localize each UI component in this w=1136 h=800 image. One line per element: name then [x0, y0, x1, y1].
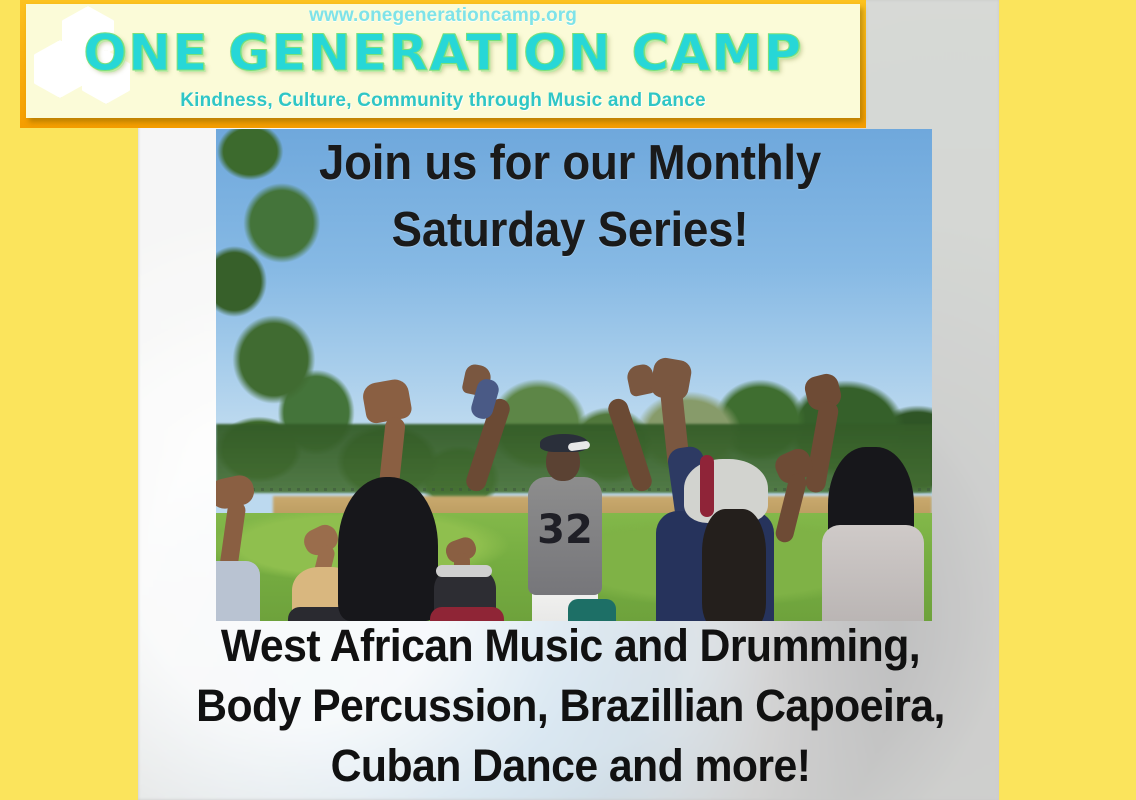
participant-body [822, 525, 924, 621]
jersey-number: 32 [528, 507, 602, 553]
participant-body [216, 561, 260, 621]
promo-line-3: Cuban Dance and more! [179, 736, 963, 796]
participant-hair [702, 509, 766, 621]
participant-hair [338, 477, 438, 621]
participant-cap-stripe [700, 455, 714, 517]
organization-title: ONE GENERATION CAMP [26, 24, 860, 82]
organization-tagline: Kindness, Culture, Community through Mus… [26, 90, 860, 112]
flyer-canvas: www.onegenerationcamp.org ONE GENERATION… [0, 0, 1136, 800]
promo-text: West African Music and Drumming, Body Pe… [179, 616, 963, 796]
headline-line-2: Saturday Series! [226, 197, 914, 264]
header-banner: www.onegenerationcamp.org ONE GENERATION… [26, 4, 860, 118]
headline-line-1: Join us for our Monthly [226, 130, 914, 197]
promo-line-1: West African Music and Drumming, [179, 616, 963, 676]
participant-hand [361, 377, 413, 424]
headline-text: Join us for our Monthly Saturday Series! [226, 130, 914, 264]
header-banner-frame: www.onegenerationcamp.org ONE GENERATION… [20, 0, 866, 128]
participant-headband [436, 565, 492, 577]
promo-line-2: Body Percussion, Brazillian Capoeira, [179, 676, 963, 736]
coach-cap [540, 434, 588, 452]
